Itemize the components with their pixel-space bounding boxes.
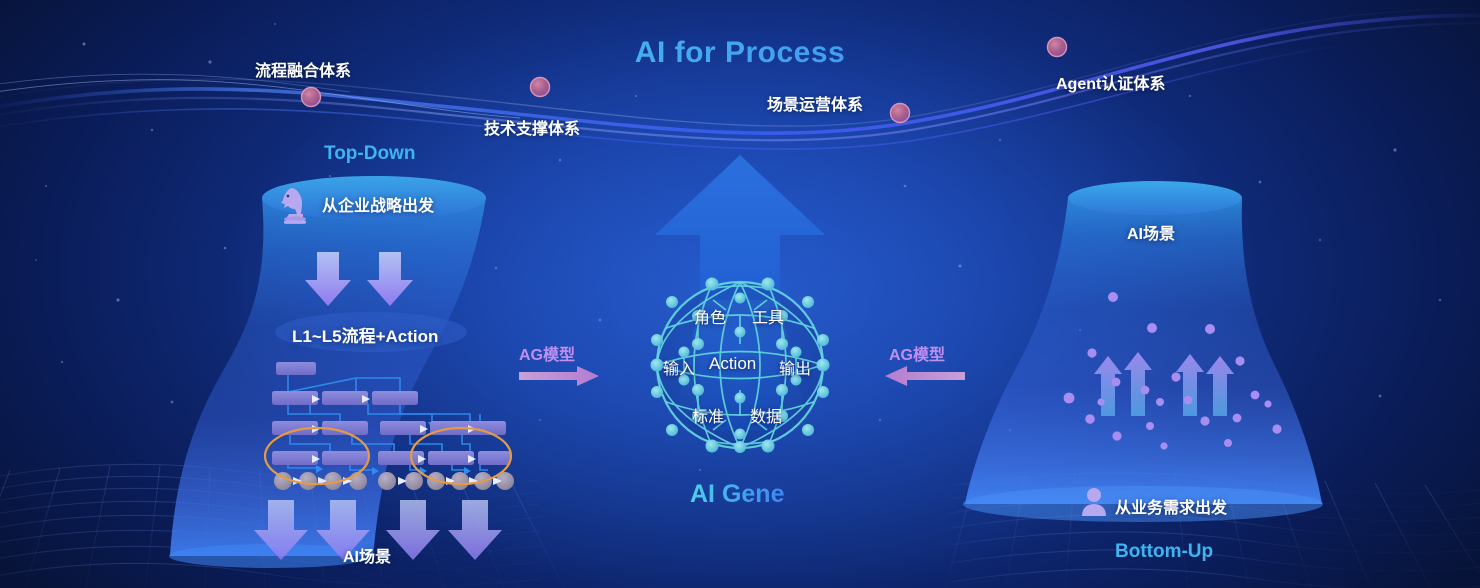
sphere-word-output: 输出 [779,355,811,379]
left-funnel-caption: Top-Down [324,143,415,165]
starfield [35,23,1441,471]
sphere-word-role: 角色 [694,304,726,328]
sphere-word-standard: 标准 [692,403,724,427]
bottom-grid-right [945,473,1480,588]
infographic-canvas: 流程融合体系 技术支撑体系 场景运营体系 Agent认证体系 AI for Pr… [0,0,1480,588]
user-person-icon [1081,487,1107,517]
wave-dot[interactable] [891,104,910,123]
ag-model-label-left: AG模型 [519,341,575,365]
wave-node-label-4: Agent认证体系 [1056,70,1165,94]
wave-dot[interactable] [302,88,321,107]
right-funnel-up-arrows [1094,352,1234,416]
wave-node-label-2: 技术支撑体系 [484,115,580,139]
left-funnel-bottom-label: AI场景 [343,543,391,567]
page-title: AI for Process [0,36,1480,70]
wave-dot[interactable] [531,78,550,97]
bottom-grid-left [0,464,565,588]
left-funnel-mid-label: L1~L5流程+Action [292,322,438,347]
flow-box-row-1 [276,362,316,375]
left-funnel-shape [170,187,486,556]
up-arrow-icon [655,155,825,430]
ag-arrow-right-icon [519,366,599,386]
right-funnel-top-cap [1068,181,1242,215]
sphere-word-input: 输入 [663,355,695,379]
ag-arrow-left-icon [885,366,965,386]
sphere-word-action: Action [709,354,756,374]
wave-node-label-3: 场景运营体系 [767,91,863,115]
flow-box-row-4 [272,451,510,465]
ag-model-label-right: AG模型 [889,341,945,365]
right-funnel-top-label: AI场景 [1127,220,1175,244]
sphere-word-data: 数据 [750,403,782,427]
ai-gene-title: AI Gene [690,480,784,509]
highlight-ellipse-left [265,428,369,484]
flow-node-dots [274,472,514,490]
flow-arrowheads [284,392,484,475]
flow-box-row-3 [272,421,506,435]
chess-knight-icon [278,184,310,226]
sphere-word-tool: 工具 [752,304,784,328]
right-funnel-particles [1064,292,1282,450]
wave-ribbon-group [0,8,1480,149]
flow-box-row-2 [272,391,418,405]
left-funnel-top-label: 从企业战略出发 [322,192,434,216]
right-funnel-bottom-label: 从业务需求出发 [1115,494,1227,518]
left-funnel-upper-arrows [305,252,413,306]
highlight-ellipse-right [411,428,511,484]
right-funnel-caption: Bottom-Up [1115,541,1213,563]
flow-connectors [288,375,488,470]
